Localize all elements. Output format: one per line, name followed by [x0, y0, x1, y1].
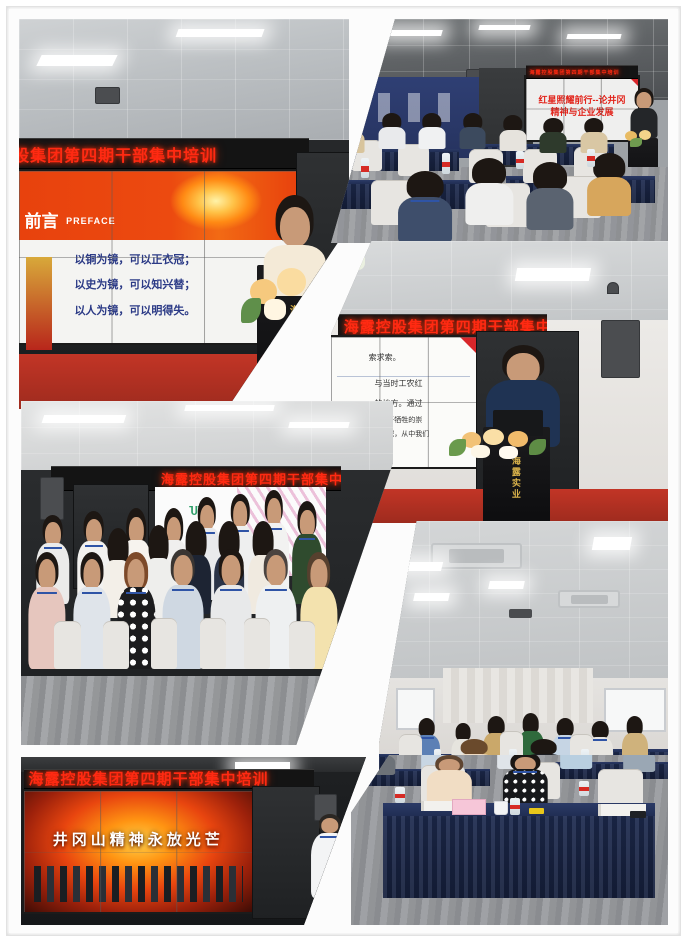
ceiling-light	[413, 593, 449, 601]
ceiling-light	[176, 29, 265, 37]
photo-7-content	[351, 755, 668, 925]
head	[310, 559, 327, 589]
water-bottle	[516, 151, 523, 169]
video-wall-jinggangshan: 井冈山精神永放光芒	[24, 791, 252, 912]
ceiling-sensor	[607, 282, 619, 293]
water-bottle	[587, 149, 594, 167]
chair	[244, 618, 270, 670]
photo-tile-audience-seated-ceiling[interactable]	[379, 521, 668, 774]
slide-title: 红星照耀前行--论井冈 精神与企业发展	[533, 94, 631, 118]
ceiling	[331, 241, 668, 320]
head	[173, 555, 192, 586]
slide-screen-text: 井冈山精神永放光芒	[53, 828, 224, 849]
slide-heading-cn: 前言	[25, 207, 59, 232]
hair	[593, 153, 625, 179]
jinggangshan-slide: 井冈山精神永放光芒	[24, 791, 252, 912]
chair	[200, 618, 226, 670]
flower-arrangement	[449, 419, 557, 464]
ceiling	[19, 19, 349, 140]
photo-tile-attendees-taking-notes[interactable]	[351, 755, 668, 925]
chair	[54, 621, 80, 669]
ceiling-light	[488, 581, 524, 589]
head	[637, 92, 652, 109]
slide-corner-mark	[460, 337, 476, 353]
water-bottle	[395, 787, 405, 802]
wall-speaker	[40, 477, 64, 520]
ceiling-light	[592, 537, 632, 550]
ppt-line: 与当时工农红	[374, 378, 422, 389]
photo-tile-classroom-audience-wide[interactable]: 红星照耀前行--论井冈 精神与企业发展 海露控股集团第四期干部集中培训	[331, 19, 668, 243]
chair	[103, 621, 129, 669]
carpet-floor	[21, 676, 393, 745]
lanyard	[513, 771, 537, 796]
slide-heading-en: PREFACE	[66, 216, 116, 226]
conference-table-foreground[interactable]	[383, 803, 656, 898]
person-attendee	[459, 113, 486, 149]
hair	[472, 158, 506, 186]
lanyard	[320, 836, 340, 873]
torso	[419, 127, 446, 148]
chair	[151, 618, 177, 670]
torso	[587, 177, 631, 216]
water-bottle	[579, 781, 589, 796]
head	[279, 207, 309, 248]
wall-speaker	[601, 320, 640, 378]
person-attendee	[580, 118, 607, 154]
ceiling-ac-unit	[558, 590, 620, 608]
hair	[461, 739, 488, 755]
red-banner-stand	[26, 257, 52, 351]
ceiling-light	[401, 562, 444, 571]
lanyard	[411, 200, 440, 232]
hair	[533, 162, 567, 190]
ceiling-projector	[509, 609, 532, 618]
photo-tile-female-speaker-preface[interactable]: 股集团第四期干部集中培训 前言 PREFACE 以铜为镜，可以正衣冠； 以史为镜…	[19, 19, 349, 409]
ceiling-light	[36, 55, 117, 66]
collage-stage: 股集团第四期干部集中培训 前言 PREFACE 以铜为镜，可以正衣冠； 以史为镜…	[9, 9, 678, 933]
flower-arrangement	[621, 127, 661, 149]
slide-quote-line-1: 以铜为镜，可以正衣冠；	[74, 252, 195, 269]
photo-6-content: 海露控股集团第四期干部集中培训 井冈山精神永放光芒	[21, 757, 366, 925]
torso	[499, 130, 526, 151]
photo-collage: 股集团第四期干部集中培训 前言 PREFACE 以铜为镜，可以正衣冠； 以史为镜…	[0, 0, 687, 942]
person-attendee	[500, 115, 527, 151]
hair	[407, 171, 444, 200]
wall-cabinet	[252, 786, 320, 919]
person-attendee	[540, 118, 567, 154]
lanyard	[82, 592, 102, 643]
phone	[529, 808, 545, 815]
name-placard	[452, 799, 486, 815]
head	[38, 559, 55, 589]
torso	[526, 188, 573, 230]
conference-table	[331, 149, 459, 171]
sunburst-graphic	[152, 171, 280, 242]
ceiling-light	[42, 415, 126, 423]
water-bottle	[442, 153, 450, 173]
chair	[598, 769, 642, 806]
photo-2-content: 红星照耀前行--论井冈 精神与企业发展 海露控股集团第四期干部集中培训	[331, 19, 668, 243]
person-attendee	[419, 113, 446, 149]
flower-arrangement	[237, 253, 349, 339]
photo-tile-group-photo[interactable]: 海露控股集团第四期干部集中培 ႮႮႮ	[21, 401, 393, 745]
flower-arrangement-left	[331, 247, 378, 286]
photo-tile-training-screen-jinggangshan[interactable]: 海露控股集团第四期干部集中培训 井冈山精神永放光芒	[21, 757, 366, 925]
ppt-line: 索求索。	[369, 352, 401, 363]
ceiling-light	[288, 422, 349, 428]
water-bottle	[510, 798, 520, 815]
water-bottle	[361, 158, 369, 178]
ceiling-light	[184, 405, 275, 411]
slide-quote-line-3: 以人为镜，可以明得失。	[74, 303, 195, 320]
lanyard	[126, 592, 146, 643]
phone	[630, 811, 646, 818]
ceiling-ac-unit	[431, 543, 522, 569]
ceiling-light	[566, 34, 621, 39]
paper-cup	[494, 801, 509, 815]
head	[266, 555, 285, 586]
led-banner: 海露控股集团第四期干部集中培训	[526, 65, 637, 79]
torso	[466, 183, 513, 225]
head	[83, 559, 100, 589]
ceiling-light	[384, 30, 443, 36]
slide-quote-line-2: 以史为镜，可以知兴替；	[74, 277, 195, 294]
photo-5-content	[379, 521, 668, 774]
head	[222, 555, 241, 586]
torso	[459, 127, 486, 148]
ceiling	[21, 401, 393, 470]
person-presenter	[311, 814, 349, 898]
person-attendee-foreground	[398, 171, 452, 243]
led-banner: 股集团第四期干部集中培训	[19, 138, 309, 169]
person-attendee-back	[560, 755, 592, 769]
torso	[540, 132, 567, 153]
person-attendee-foreground	[466, 158, 513, 225]
head	[321, 818, 338, 833]
silhouette-row	[34, 866, 244, 902]
ceiling	[379, 521, 668, 678]
torso	[378, 127, 405, 148]
ceiling-light	[479, 25, 531, 30]
hair	[530, 739, 557, 755]
head	[128, 559, 145, 589]
ceiling-light	[515, 268, 591, 281]
ppt-rule	[337, 376, 470, 377]
person-attendee	[378, 113, 405, 149]
chair	[289, 621, 315, 669]
slide-orange-banner	[19, 171, 296, 240]
stage-floor	[19, 354, 349, 409]
ceiling-projector	[95, 87, 120, 105]
person-attendee-foreground	[526, 162, 573, 229]
photo-1-content: 股集团第四期干部集中培训 前言 PREFACE 以铜为镜，可以正衣冠； 以史为镜…	[19, 19, 349, 409]
photo-4-content: 海露控股集团第四期干部集中培 ႮႮႮ	[21, 401, 393, 745]
